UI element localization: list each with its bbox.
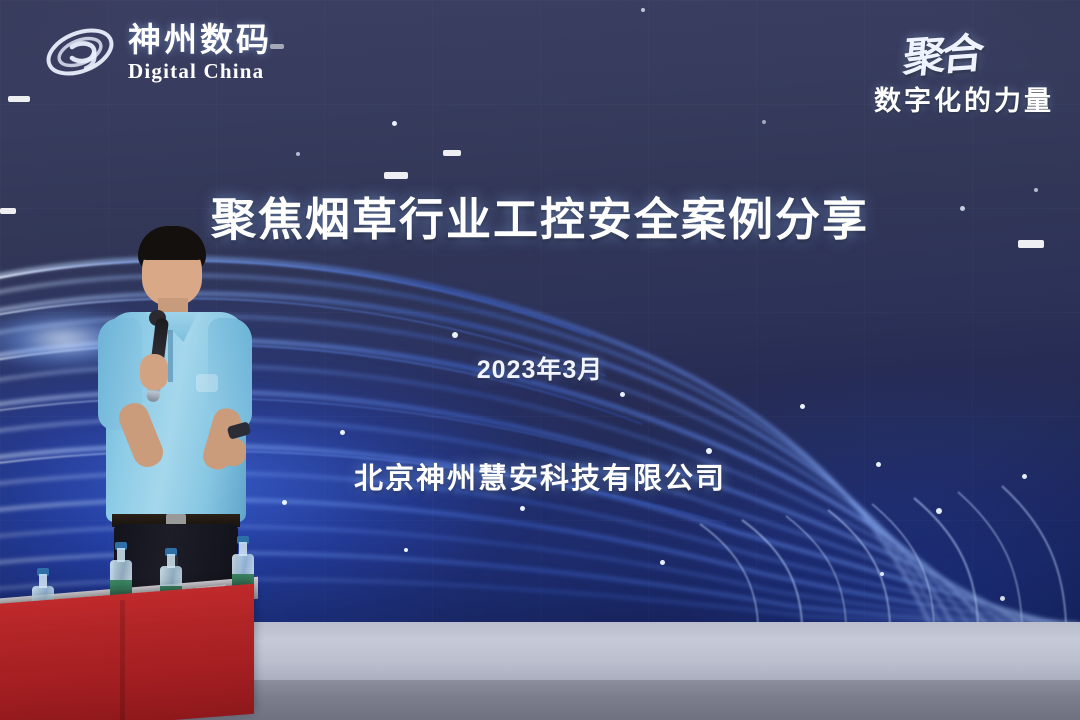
- sparkle: [936, 508, 942, 514]
- sparkle: [392, 121, 397, 126]
- table-cloth: [0, 584, 254, 720]
- digital-china-swirl-icon: [42, 18, 118, 86]
- presenter-placket: [168, 330, 173, 382]
- presenter-hair-front: [140, 234, 204, 260]
- sparkle: [340, 430, 345, 435]
- sparkle: [800, 404, 805, 409]
- brand-name-en: Digital China: [128, 61, 272, 82]
- table-cloth-fold: [120, 600, 125, 720]
- sparkle: [880, 572, 884, 576]
- brand-name-cn: 神州数码: [128, 23, 272, 56]
- sparkle: [404, 548, 408, 552]
- sparkle: [620, 392, 625, 397]
- sparkle: [706, 448, 712, 454]
- presenter-hand-right: [220, 438, 246, 466]
- stage-photo: 聚焦烟草行业工控安全案例分享 2023年3月 北京神州慧安科技有限公司 神州数码…: [0, 0, 1080, 720]
- brand-logo-right: 聚合 数字化的力量: [874, 22, 1054, 118]
- sparkle: [282, 500, 287, 505]
- sparkle: [520, 506, 525, 511]
- presenter-hand-left: [140, 354, 168, 390]
- sparkle: [762, 120, 766, 124]
- sparkle: [452, 332, 458, 338]
- brand-logo-left: 神州数码 Digital China: [42, 18, 272, 86]
- calligraphy-juhe: 聚合: [901, 19, 983, 85]
- sparkle: [443, 150, 461, 156]
- sparkle: [660, 560, 665, 565]
- sparkle: [1000, 596, 1005, 601]
- sparkle: [270, 44, 284, 49]
- sparkle: [296, 152, 300, 156]
- sparkle: [8, 96, 30, 102]
- sparkle: [641, 8, 645, 12]
- presenter-chest-logo: [196, 374, 218, 392]
- sparkle: [384, 172, 408, 179]
